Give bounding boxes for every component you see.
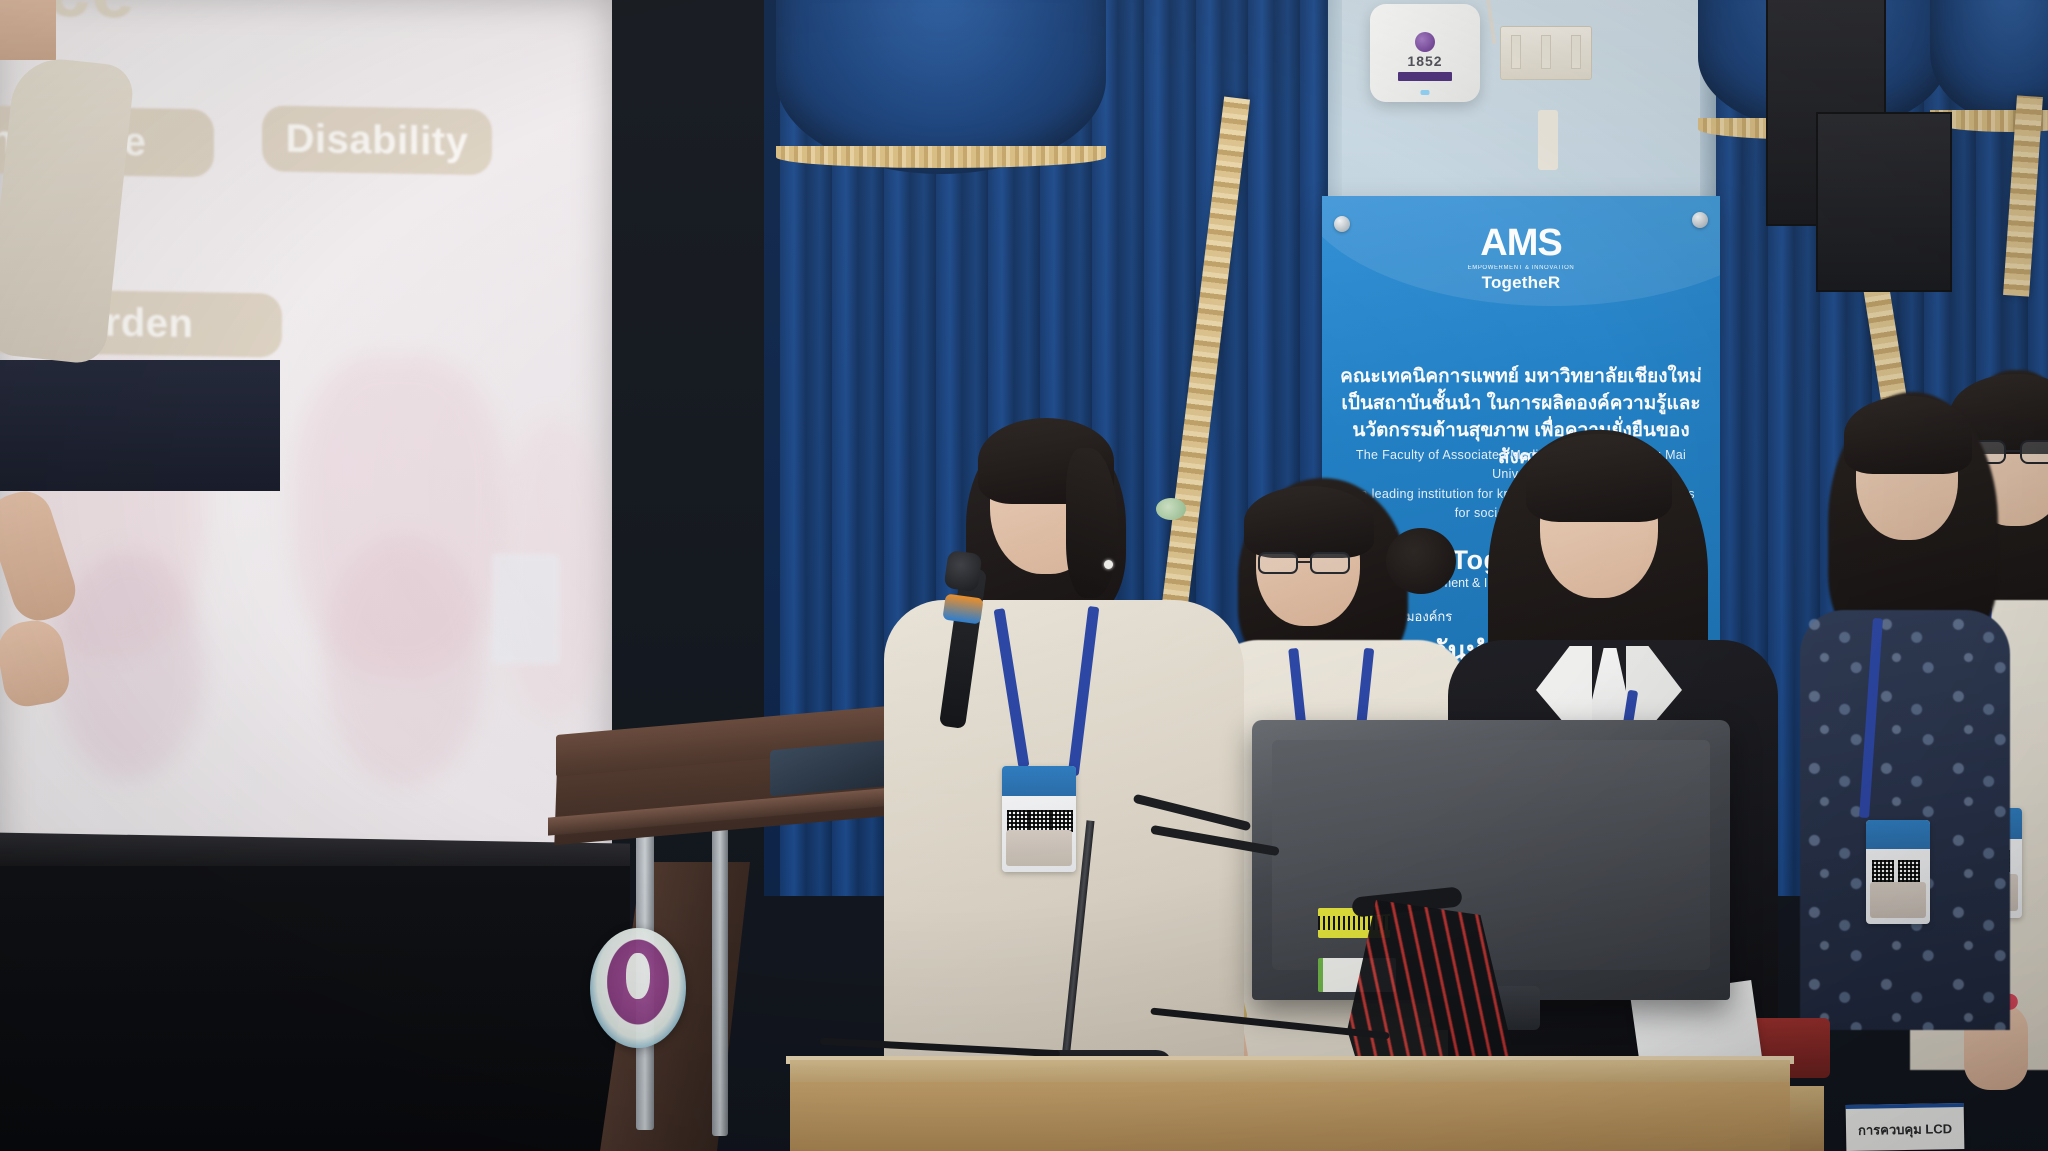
chiang-mai-university-seal-icon [590, 928, 686, 1048]
sign-thai-line-2: เป็นสถาบันชั้นนำ ในการผลิตองค์ความรู้และ [1330, 391, 1712, 418]
table-front-panel [790, 1082, 1790, 1151]
eyeglasses-icon [1258, 552, 1354, 574]
badge-qr-icon-1 [1007, 810, 1029, 832]
table-right-post [1790, 1086, 1824, 1151]
id-badge [1002, 766, 1076, 872]
access-point-label-bar [1398, 72, 1452, 81]
lcd-control-label: การควบคุม LCD [1846, 1103, 1965, 1151]
stage-floor-shadow [0, 866, 630, 1151]
arm [0, 484, 83, 627]
wall-cable-clip [1538, 110, 1558, 170]
hair-top [1844, 396, 1972, 474]
person-speaker [0, 0, 280, 705]
hair-accessory [1156, 498, 1186, 520]
hair-top [1526, 434, 1672, 522]
hand-holding-microphone [0, 616, 73, 710]
badge-artwork [1870, 882, 1926, 917]
curtain-fringe-left [776, 146, 1106, 168]
hair-bun [1386, 528, 1456, 594]
podium-support-post-right [712, 806, 728, 1136]
access-point-logo-icon [1415, 32, 1435, 52]
pa-speaker-box-lower [1816, 112, 1952, 292]
badge-qr-icon-3 [1051, 810, 1073, 832]
ams-logo-mark: AMS [1322, 224, 1720, 262]
wall-power-socket [1500, 26, 1592, 80]
badge-qr-icon-2 [1898, 860, 1920, 882]
badge-header [1002, 766, 1076, 796]
badge-artwork [1006, 830, 1071, 866]
slide-illustration-4 [324, 534, 484, 787]
lcd-control-label-text: การควบคุม LCD [1858, 1118, 1952, 1141]
id-badge [1866, 820, 1930, 924]
ams-logo-word: TogetheR [1322, 273, 1720, 293]
trousers [0, 360, 280, 491]
blouse-sleeve-left [0, 55, 135, 366]
ams-logo: AMS EMPOWERMENT & INNOVATION TogetheR [1322, 224, 1720, 293]
sign-thai-line-1: คณะเทคนิคการแพทย์ มหาวิทยาลัยเชียงใหม่ [1330, 364, 1712, 391]
access-point-number: 1852 [1370, 53, 1480, 69]
earring [1104, 560, 1113, 569]
badge-header [1866, 820, 1930, 849]
photo-scene: 1852 AMS EMPOWERMENT & INNOVATION Togeth… [0, 0, 2048, 1151]
microphone-capsule-icon [944, 550, 983, 592]
slide-document-graphic [492, 553, 560, 664]
microphone-color-band [942, 593, 983, 624]
ams-logo-subtitle: EMPOWERMENT & INNOVATION [1322, 265, 1720, 271]
badge-qr-icon-1 [1872, 860, 1894, 882]
neck [0, 0, 56, 60]
slide-chip-disability: Disability [262, 105, 492, 175]
badge-qr-icon-2 [1029, 810, 1051, 832]
hair-top [1244, 486, 1374, 558]
wifi-access-point: 1852 [1370, 4, 1480, 102]
access-point-led-icon [1421, 90, 1430, 95]
